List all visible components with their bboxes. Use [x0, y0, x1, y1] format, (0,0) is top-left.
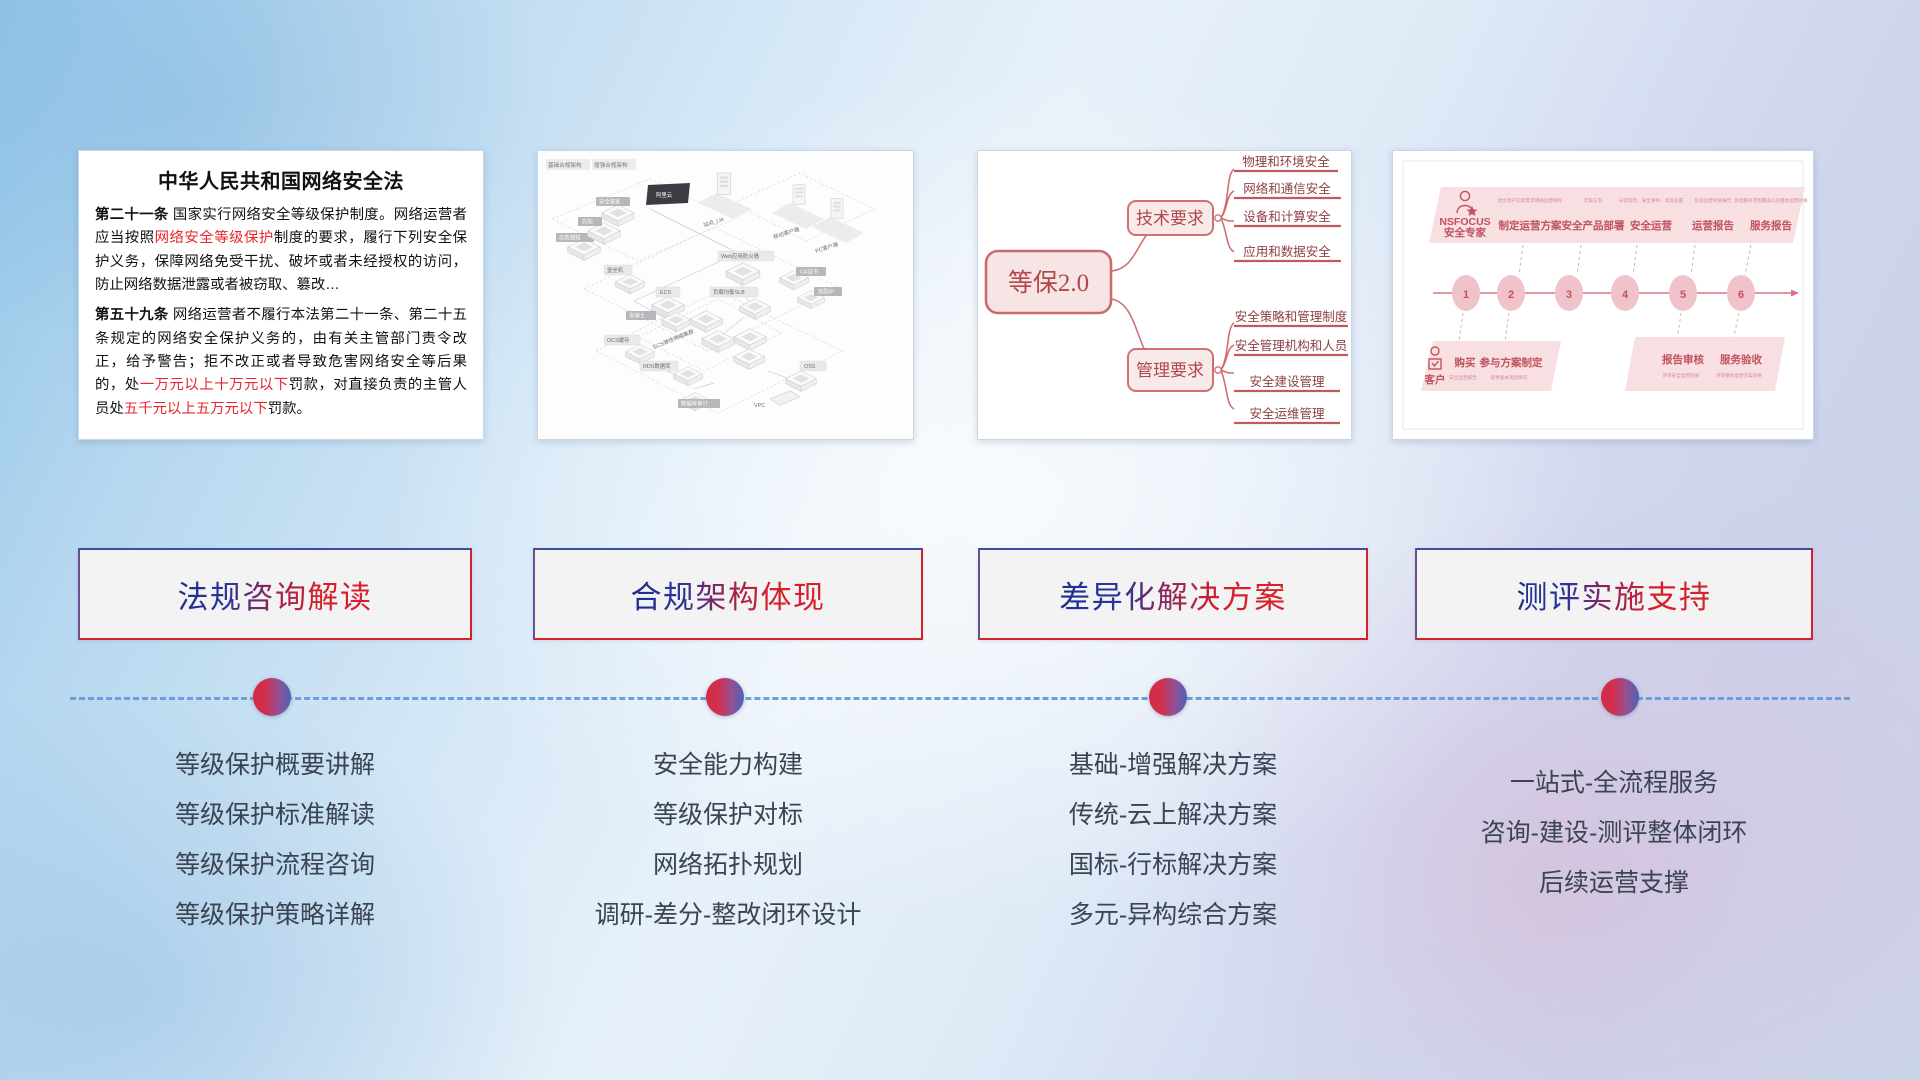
list-item: 调研-差分-整改闭环设计	[533, 890, 923, 940]
mindmap-leaf-label: 安全运维管理	[1249, 406, 1325, 421]
list-item: 等级保护流程咨询	[78, 840, 472, 890]
section-title-text: 测评实施支持	[1517, 572, 1712, 617]
arch-node-label: Web应用防火墙	[721, 252, 760, 260]
arch-node-label: 态势感知	[559, 234, 581, 242]
list-item: 安全能力构建	[533, 740, 923, 790]
timeline	[0, 678, 1920, 718]
nsfocus-top-step-sub: 阶段运营效果报告	[1695, 197, 1732, 204]
detail-list-2: 安全能力构建 等级保护对标 网络拓扑规划 调研-差分-整改闭环设计	[533, 740, 923, 940]
arch-node-label: CA证书	[800, 268, 819, 276]
image-card-row: 中华人民共和国网络安全法 第二十一条 国家实行网络安全等级保护制度。网络运营者应…	[0, 150, 1920, 450]
list-item: 一站式-全流程服务	[1415, 758, 1813, 808]
law-title: 中华人民共和国网络安全法	[95, 165, 467, 194]
nsfocus-bottom-step-title: 购买	[1455, 356, 1477, 369]
arch-node-label: 负载均衡SLB	[713, 288, 745, 296]
card-nsfocus-process: .nband{fill:#f8dfe2;} .ntitle{font-famil…	[1392, 150, 1814, 440]
section-title-box-4[interactable]: 测评实施支持	[1415, 548, 1813, 640]
mindmap-leaf-label: 安全管理机构和人员	[1235, 338, 1348, 353]
nsfocus-step-number: 2	[1508, 289, 1514, 301]
arch-node-label: 安骑士	[629, 312, 646, 320]
section-title-text: 差异化解决方案	[1059, 572, 1287, 617]
arch-node-label: 堡垒机	[607, 266, 624, 274]
mindmap-root-label: 等保2.0	[1008, 269, 1089, 297]
nsfocus-process-diagram: .nband{fill:#f8dfe2;} .ntitle{font-famil…	[1393, 151, 1813, 439]
section-title-box-3[interactable]: 差异化解决方案	[978, 548, 1368, 640]
card-mindmap-dengbao: .mroot{fill:#f7e4e4; stroke:#c96a6c; str…	[977, 150, 1352, 440]
nsfocus-bottom-step-title: 服务验收	[1720, 353, 1762, 366]
list-item: 等级保护标准解读	[78, 790, 472, 840]
list-item: 后续运营支撑	[1415, 858, 1813, 908]
detail-list-1: 等级保护概要讲解 等级保护标准解读 等级保护流程咨询 等级保护策略详解	[78, 740, 472, 940]
mindmap-branch-label: 技术要求	[1136, 209, 1204, 228]
section-title-text: 合规架构体现	[631, 572, 826, 617]
mindmap-leaf-label: 应用和数据安全	[1243, 244, 1331, 259]
arch-node-label: 数据库审计	[681, 400, 709, 408]
nsfocus-actor-line2: 安全专家	[1444, 226, 1486, 239]
law-run: 罚款。	[268, 401, 311, 417]
nsfocus-bottom-step-sub: 提供基本现状情况	[1491, 374, 1528, 381]
nsfocus-top-step-sub: 日常巡检、安全事件、高危处置	[1619, 197, 1684, 204]
list-item: 传统-云上解决方案	[978, 790, 1368, 840]
list-item: 国标-行标解决方案	[978, 840, 1368, 890]
law-paragraph-59: 第五十九条 网络运营者不履行本法第二十一条、第二十五条规定的网络安全保护义务的，…	[95, 304, 467, 421]
arch-node-label: VPC	[754, 403, 765, 409]
nsfocus-step-number: 5	[1680, 289, 1686, 301]
section-title-row: 法规咨询解读 合规架构体现 差异化解决方案 测评实施支持	[0, 548, 1920, 644]
card-cybersecurity-law: 中华人民共和国网络安全法 第二十一条 国家实行网络安全等级保护制度。网络运营者应…	[78, 150, 484, 440]
arch-node-label: RDS数据库	[643, 362, 671, 370]
section-title-box-1[interactable]: 法规咨询解读	[78, 548, 472, 640]
list-item: 多元-异构综合方案	[978, 890, 1368, 940]
nsfocus-step-number: 1	[1463, 289, 1469, 301]
law-run-highlight: 五千元以上五万元以下	[124, 401, 268, 417]
nsfocus-top-step-sub: 总结服务范围覆盖以及整体运营效果	[1734, 197, 1808, 204]
nsfocus-top-step-title: 服务报告	[1750, 219, 1792, 232]
arch-node-label: 安全管家	[599, 198, 621, 206]
mindmap-leaf-label: 安全策略和管理制度	[1235, 309, 1348, 324]
nsfocus-top-step-sub: 结合客户实际需求明确运营目标	[1498, 197, 1563, 204]
arch-node-label: OCS缓存	[607, 336, 630, 344]
timeline-dot-3[interactable]	[1149, 678, 1187, 716]
nsfocus-top-step-title: 运营报告	[1692, 219, 1734, 232]
arch-node-label: 高防IP	[818, 288, 834, 296]
nsfocus-bottom-step-sub: 安全运营报告	[1449, 374, 1477, 381]
nsfocus-top-step-title: 安全产品部署	[1562, 219, 1625, 232]
nsfocus-customer-label: 客户	[1424, 373, 1446, 386]
detail-list-4: 一站式-全流程服务 咨询-建设-测评整体闭环 后续运营支撑	[1415, 758, 1813, 908]
nsfocus-bottom-step-title: 报告审核	[1662, 353, 1704, 366]
list-item: 等级保护对标	[533, 790, 923, 840]
timeline-dot-1[interactable]	[253, 678, 291, 716]
timeline-dashed-line	[70, 697, 1850, 700]
arch-badge-aliyun: 阿里云	[656, 191, 673, 199]
timeline-dot-2[interactable]	[706, 678, 744, 716]
law-run-highlight: 网络安全等级保护	[155, 230, 274, 246]
list-item: 咨询-建设-测评整体闭环	[1415, 808, 1813, 858]
nsfocus-step-number: 4	[1622, 289, 1629, 301]
list-item: 等级保护概要讲解	[78, 740, 472, 790]
nsfocus-bottom-step-sub: 评审安全运营效果	[1663, 372, 1700, 379]
arch-node-label: 先知	[582, 218, 593, 226]
nsfocus-top-step-title: 制定运营方案	[1499, 219, 1562, 232]
section-title-text: 法规咨询解读	[178, 572, 373, 617]
nsfocus-bottom-step-sub: 评审整体运营方案效果	[1716, 372, 1762, 379]
list-item: 等级保护策略详解	[78, 890, 472, 940]
law-paragraph-21: 第二十一条 国家实行网络安全等级保护制度。网络运营者应当按照网络安全等级保护制度…	[95, 204, 467, 297]
nsfocus-top-step-title: 安全运营	[1630, 219, 1672, 232]
nsfocus-step-number: 3	[1566, 289, 1572, 301]
mindmap-leaf-label: 安全建设管理	[1249, 374, 1325, 389]
card-cloud-architecture: .lbl{font-size:5.4px; fill:#6b6b72; font…	[537, 150, 914, 440]
law-article-label-21: 第二十一条	[95, 207, 169, 223]
mindmap-leaf-label: 网络和通信安全	[1243, 181, 1331, 196]
mindmap-leaf-label: 物理和环境安全	[1242, 154, 1330, 169]
mindmap-diagram: .mroot{fill:#f7e4e4; stroke:#c96a6c; str…	[978, 151, 1351, 439]
architecture-diagram: .lbl{font-size:5.4px; fill:#6b6b72; font…	[538, 151, 913, 439]
mindmap-branch-label: 管理要求	[1136, 361, 1204, 380]
nsfocus-top-step-sub: 实施方案	[1584, 197, 1603, 204]
nsfocus-step-number: 6	[1738, 289, 1744, 301]
section-title-box-2[interactable]: 合规架构体现	[533, 548, 923, 640]
nsfocus-bottom-step-title: 参与方案制定	[1480, 356, 1543, 369]
arch-tab-basic: 基础合规架构	[548, 161, 582, 169]
law-article-label-59: 第五十九条	[95, 307, 169, 323]
list-item: 网络拓扑规划	[533, 840, 923, 890]
list-item: 基础-增强解决方案	[978, 740, 1368, 790]
mindmap-leaf-label: 设备和计算安全	[1243, 209, 1331, 224]
arch-tab-enhanced: 增强合规架构	[594, 161, 628, 169]
timeline-dot-4[interactable]	[1601, 678, 1639, 716]
arch-node-label: OSS	[804, 364, 816, 370]
law-run-highlight: 一万元以上十万元以下	[140, 377, 289, 393]
detail-list-3: 基础-增强解决方案 传统-云上解决方案 国标-行标解决方案 多元-异构综合方案	[978, 740, 1368, 940]
arch-node-label: ECS	[660, 290, 671, 296]
